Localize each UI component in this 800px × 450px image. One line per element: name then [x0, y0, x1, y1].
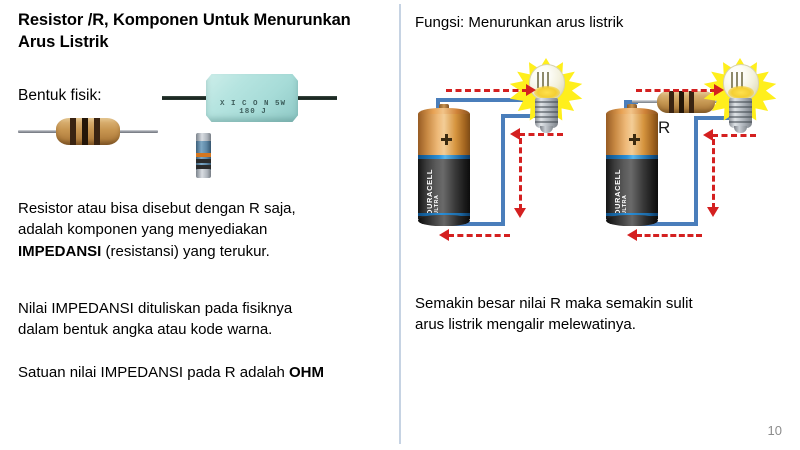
melf-cap-bottom — [196, 169, 211, 178]
definition-line-2: adalah komponen yang menyediakan — [18, 221, 267, 238]
wire-mid-vertical — [501, 114, 505, 226]
resistor-band-1 — [70, 118, 76, 145]
battery: DURACELL ULTRA — [604, 108, 660, 226]
right-column: Fungsi: Menurunkan arus listrik — [401, 0, 800, 450]
axial-resistor-photo — [18, 108, 158, 156]
battery-brand-sub: ULTRA — [434, 195, 440, 215]
battery: DURACELL ULTRA — [416, 108, 472, 226]
current-arrow-top-line — [446, 89, 528, 92]
unit-prefix: Satuan nilai IMPEDANSI pada R adalah — [18, 364, 289, 381]
paragraph-unit: Satuan nilai IMPEDANSI pada R adalah OHM — [18, 362, 390, 383]
fungsi-heading: Fungsi: Menurunkan arus listrik — [415, 14, 623, 31]
bulb-thread-1 — [535, 101, 558, 103]
battery-black-body: DURACELL ULTRA — [606, 159, 658, 219]
light-bulb — [703, 58, 777, 144]
current-arrow-down-head — [514, 208, 526, 218]
current-arrow-bulb-return-line — [519, 133, 563, 136]
caption-line-1: Semakin besar nilai R maka semakin sulit — [415, 295, 693, 312]
resistor-band-2 — [82, 118, 88, 145]
light-bulb — [509, 58, 583, 144]
bulb-base-tip — [540, 126, 553, 133]
wire-r-mid-vertical — [694, 116, 698, 226]
resistor-band-3 — [94, 118, 100, 145]
bulb-screw-base — [729, 98, 752, 128]
current-arrow-bottom-head — [439, 229, 449, 241]
ohm-keyword: OHM — [289, 364, 324, 381]
battery-brand-sub: ULTRA — [622, 195, 628, 215]
bulb-thread-4 — [535, 116, 558, 118]
current-arrow-bulb-return-line — [712, 134, 756, 137]
current-arrow-top-head — [526, 84, 536, 96]
battery-brand-text: DURACELL ULTRA — [425, 195, 473, 215]
caption-line-2: arus listrik mengalir melewatinya. — [415, 316, 636, 333]
paragraph-definition: Resistor atau bisa disebut dengan R saja… — [18, 198, 390, 262]
definition-line-3-rest: (resistansi) yang terukur. — [101, 243, 269, 260]
melf-band-1 — [196, 153, 211, 157]
bulb-thread-2 — [729, 106, 752, 108]
current-arrow-down-head — [707, 207, 719, 217]
battery-copper-section — [418, 114, 470, 156]
bulb-thread-5 — [729, 121, 752, 123]
current-arrow-bottom-line — [636, 234, 702, 237]
circuit-without-resistor: DURACELL ULTRA — [406, 58, 601, 273]
current-arrow-bottom-head — [627, 229, 637, 241]
resistor-body — [56, 118, 120, 145]
battery-black-body: DURACELL ULTRA — [418, 159, 470, 219]
bulb-thread-4 — [729, 116, 752, 118]
definition-line-1: Resistor atau bisa disebut dengan R saja… — [18, 200, 296, 217]
circuit-resistor-band-3 — [689, 91, 694, 113]
battery-brand-text: DURACELL ULTRA — [613, 195, 661, 215]
ceramic-power-resistor-photo: X I C O N 5W 180 J — [162, 70, 337, 126]
battery-bottom-cap — [606, 215, 658, 226]
circuit-resistor-band-2 — [679, 91, 684, 113]
bulb-thread-5 — [535, 121, 558, 123]
battery-brand-name: DURACELL — [425, 195, 434, 215]
bulb-thread-3 — [535, 111, 558, 113]
current-arrow-down-line — [519, 138, 522, 210]
bulb-base-tip — [734, 126, 747, 133]
battery-bottom-cap — [418, 215, 470, 226]
left-column: Resistor /R, Komponen Untuk Menurunkan A… — [0, 0, 399, 450]
ceramic-marking: X I C O N 5W 180 J — [214, 101, 292, 117]
circuit-with-resistor: R DURACELL ULTRA — [594, 58, 794, 273]
battery-plus-symbol — [441, 134, 452, 145]
circuit-resistor-lead-left — [632, 100, 660, 103]
marking-line-2: dalam bentuk angka atau kode warna. — [18, 321, 272, 338]
ceramic-lead-left — [162, 96, 212, 100]
melf-band-2 — [196, 159, 211, 163]
bulb-thread-2 — [535, 106, 558, 108]
current-arrow-down-line — [712, 139, 715, 209]
caption-text: Semakin besar nilai R maka semakin sulit… — [415, 293, 787, 336]
battery-plus-symbol — [629, 134, 640, 145]
bentuk-fisik-label: Bentuk fisik: — [18, 87, 102, 105]
page-number: 10 — [768, 423, 782, 438]
circuit-resistor-band-1 — [669, 91, 674, 113]
current-arrow-top-line — [636, 89, 716, 92]
current-arrow-top-head — [714, 84, 724, 96]
marking-line-1: Nilai IMPEDANSI dituliskan pada fisiknya — [18, 300, 292, 317]
bulb-thread-3 — [729, 111, 752, 113]
bulb-screw-base — [535, 98, 558, 128]
melf-body — [196, 141, 211, 170]
battery-copper-section — [606, 114, 658, 156]
battery-brand-name: DURACELL — [613, 195, 622, 215]
impedansi-keyword: IMPEDANSI — [18, 243, 101, 260]
resistor-lead-left — [18, 130, 60, 133]
ceramic-marking-line1: X I C O N — [220, 100, 270, 108]
slide-root: Resistor /R, Komponen Untuk Menurunkan A… — [0, 0, 800, 450]
resistor-lead-right — [116, 130, 158, 133]
page-title: Resistor /R, Komponen Untuk Menurunkan A… — [18, 10, 383, 54]
bulb-thread-1 — [729, 101, 752, 103]
current-arrow-bottom-line — [448, 234, 510, 237]
melf-resistor-photo — [196, 133, 211, 178]
paragraph-marking: Nilai IMPEDANSI dituliskan pada fisiknya… — [18, 298, 390, 341]
